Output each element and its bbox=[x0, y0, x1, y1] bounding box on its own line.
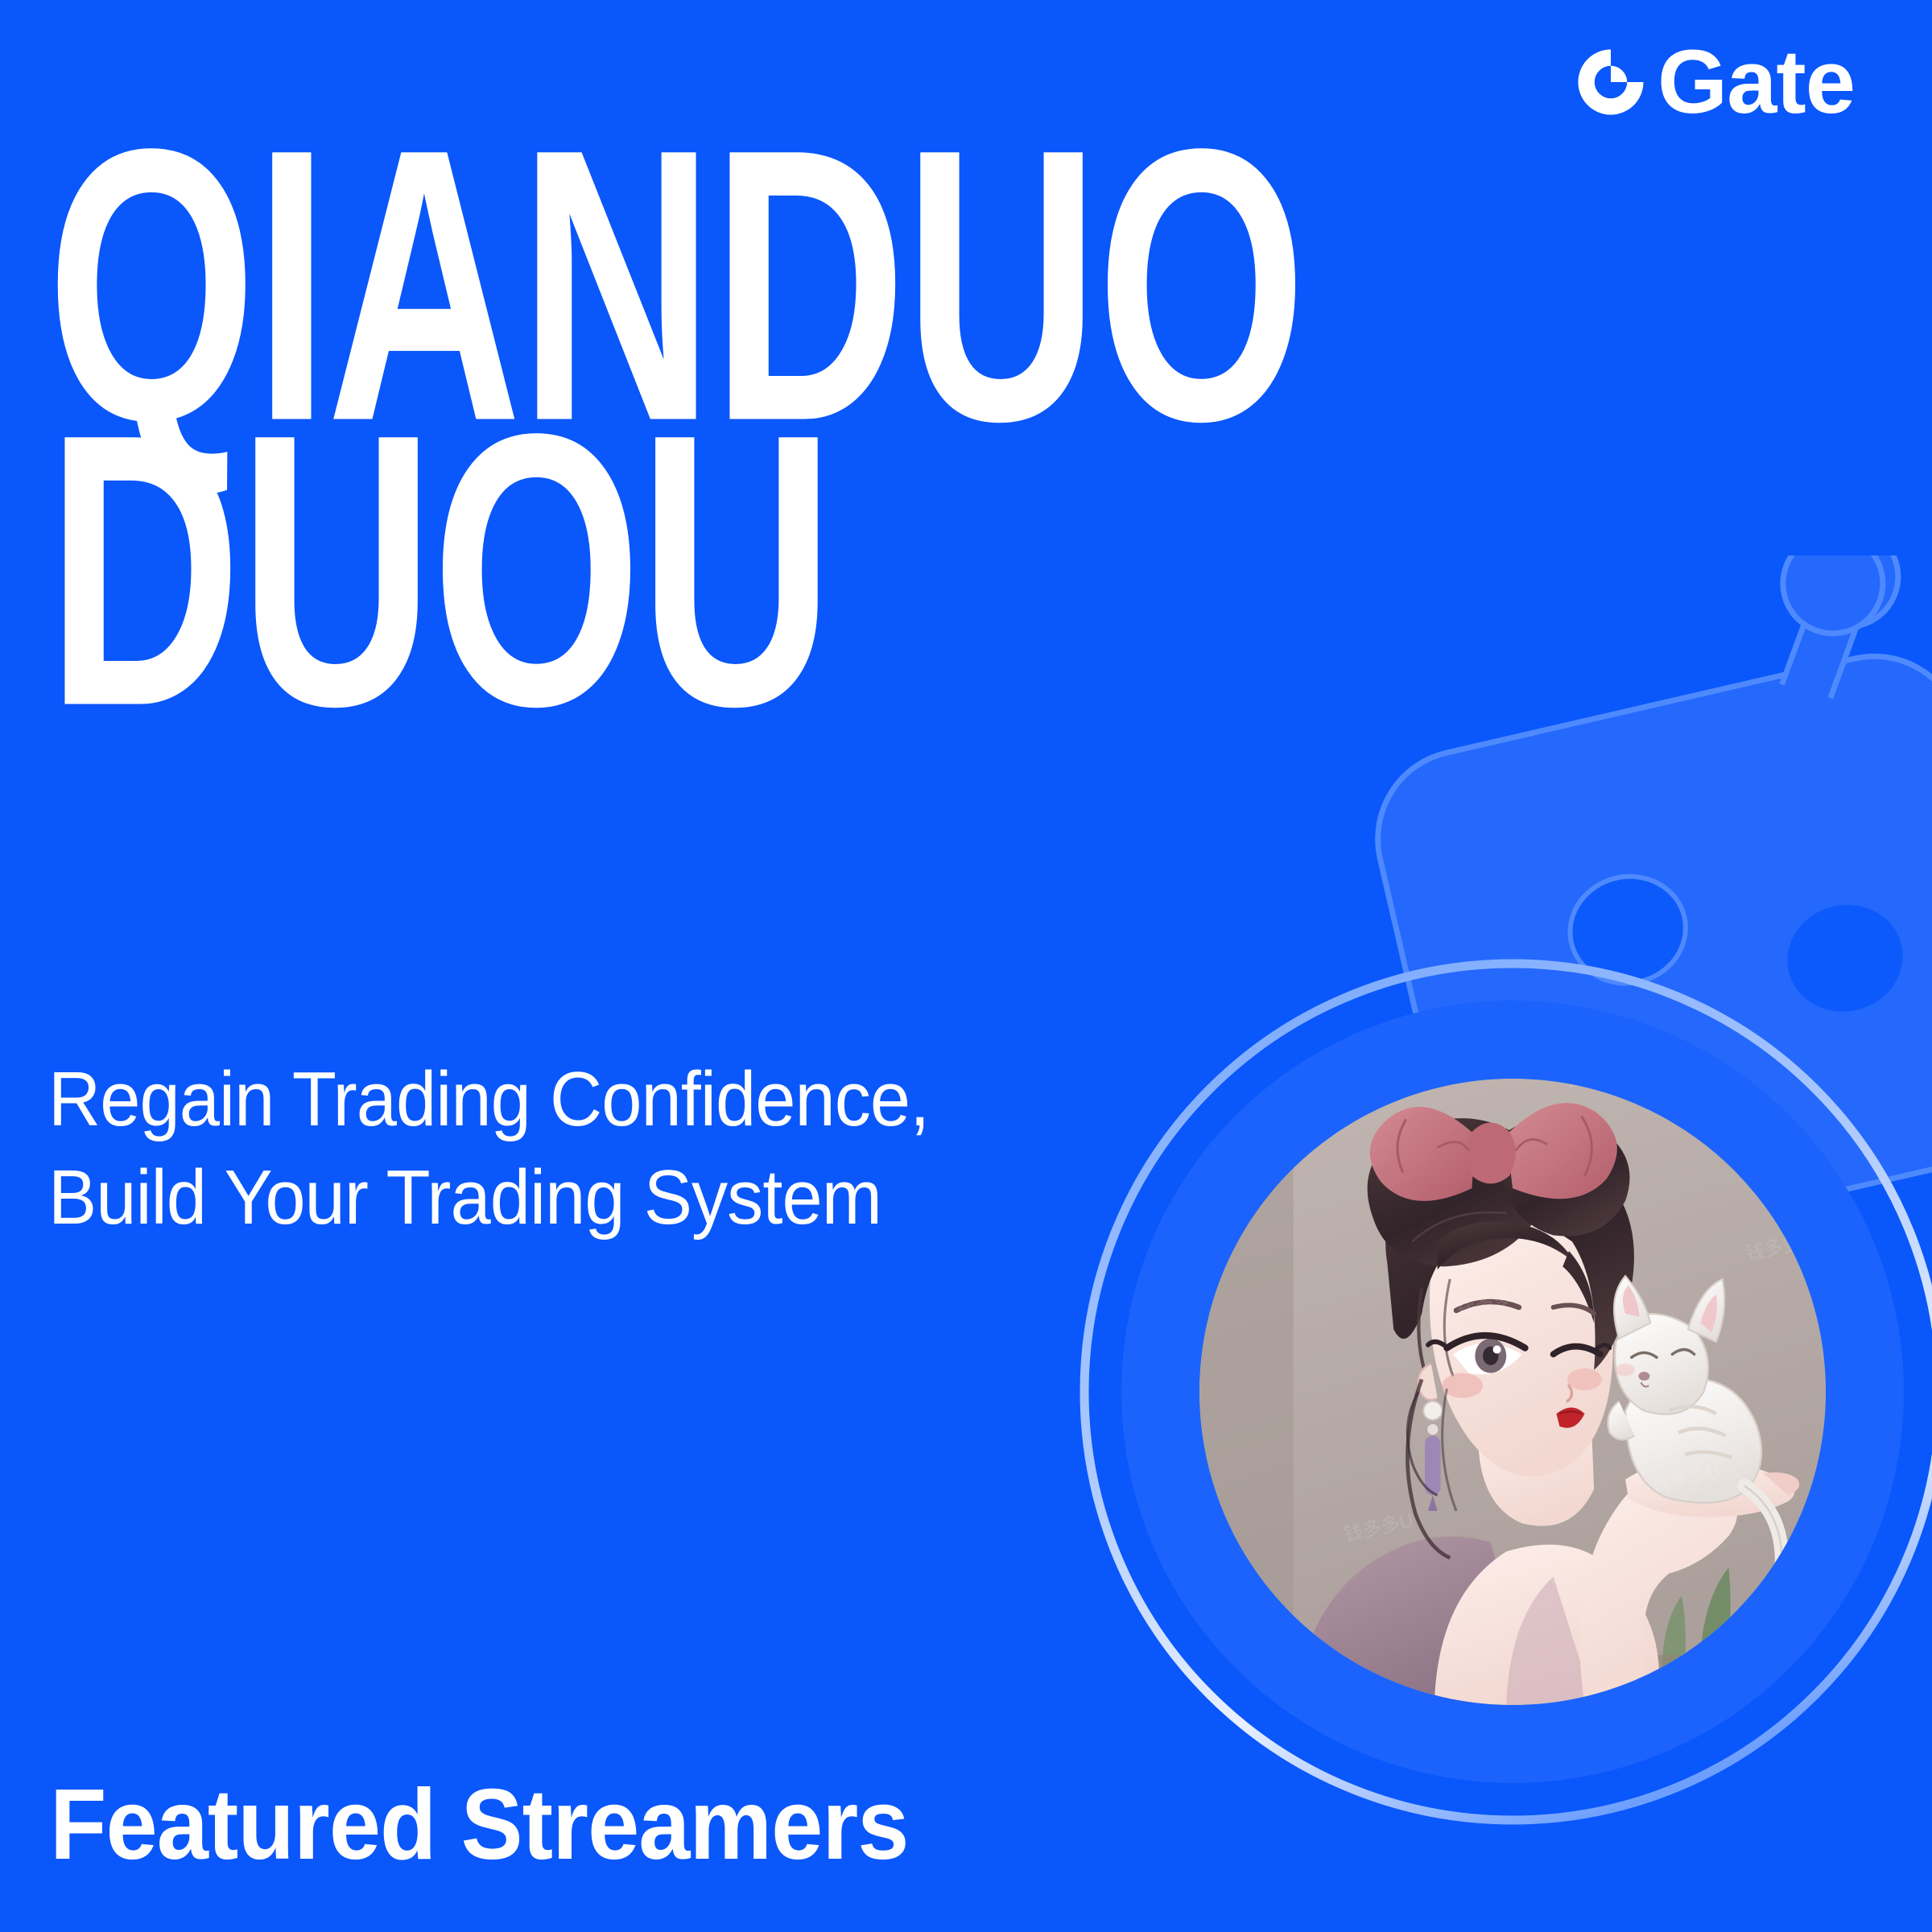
brand-logo[interactable]: Gate bbox=[1575, 47, 1855, 118]
page-title: QIANDUO DUOU bbox=[47, 137, 1415, 687]
poster-canvas: 钱多多 钱多多 钱多多 钱多多U 钱多多U Gate bbox=[0, 0, 1932, 1932]
featured-streamers-label: Featured Streamers bbox=[50, 1765, 908, 1885]
brand-wordmark: Gate bbox=[1657, 47, 1855, 118]
hero-subtitle: Regain Trading Confidence, Build Your Tr… bbox=[48, 1051, 1108, 1247]
subtitle-line-2: Build Your Trading System bbox=[48, 1149, 1108, 1247]
title-line-2: DUOU bbox=[47, 422, 1114, 720]
gate-circle-mark-icon bbox=[1575, 47, 1646, 118]
subtitle-line-1: Regain Trading Confidence, bbox=[48, 1051, 1108, 1149]
avatar-image: 钱多多 钱多多 钱多多 钱多多U 钱多多U bbox=[1199, 1079, 1826, 1705]
featured-streamer-avatar[interactable]: 钱多多 钱多多 钱多多 钱多多U 钱多多U bbox=[1077, 956, 1932, 1827]
